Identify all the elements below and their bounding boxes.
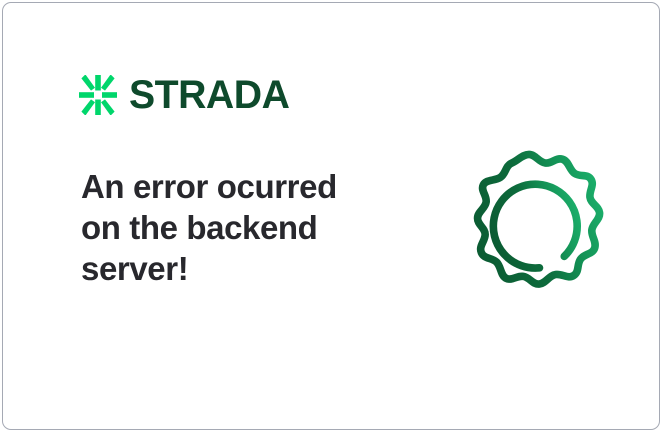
error-card: STRADA An error ocurred on the backend s… bbox=[2, 2, 660, 430]
brand-wordmark: STRADA bbox=[129, 75, 289, 115]
error-message: An error ocurred on the backend server! bbox=[81, 166, 381, 289]
strada-asterisk-icon bbox=[79, 75, 117, 115]
error-page: STRADA An error ocurred on the backend s… bbox=[0, 0, 666, 436]
brand-lockup: STRADA bbox=[79, 71, 293, 119]
